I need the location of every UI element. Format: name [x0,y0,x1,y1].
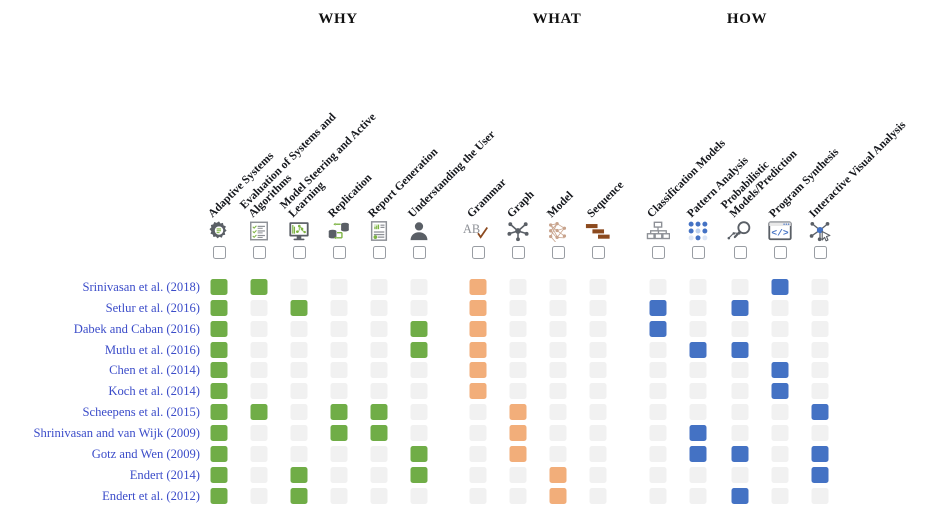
row-label-citation[interactable]: Srinivasan et al. (2018) [0,279,200,296]
matrix-cell-empty[interactable] [772,488,789,504]
magnifier-path-icon [725,218,755,244]
matrix-cell-empty[interactable] [510,342,527,358]
matrix-cell-empty[interactable] [690,467,707,483]
matrix-cell-filled[interactable] [411,446,428,462]
matrix-cell-filled[interactable] [690,342,707,358]
matrix-cell-empty[interactable] [732,404,749,420]
matrix-cell-filled[interactable] [812,446,829,462]
row-label-citation[interactable]: Mutlu et al. (2016) [0,342,200,359]
matrix-cell-empty[interactable] [331,362,348,378]
column-control-1 [242,218,276,264]
column-filter-checkbox[interactable] [293,246,306,259]
matrix-cell-empty[interactable] [371,383,388,399]
matrix-cell-empty[interactable] [812,321,829,337]
matrix-cell-empty[interactable] [772,321,789,337]
dot-matrix-icon [683,218,713,244]
node-graph-icon [503,218,533,244]
matrix-cell-empty[interactable] [251,383,268,399]
row-label-citation[interactable]: Endert et al. (2012) [0,488,200,505]
database-flow-icon [324,218,354,244]
row-label-citation[interactable]: Koch et al. (2014) [0,383,200,400]
matrix-cell-empty[interactable] [772,425,789,441]
matrix-cell-empty[interactable] [331,300,348,316]
matrix-page: WHYWHATHOW Adaptive SystemsEvaluation of… [0,0,946,515]
matrix-cell-empty[interactable] [411,425,428,441]
column-label-line1: Report Generation [366,145,440,219]
matrix-cell-empty[interactable] [690,321,707,337]
matrix-cell-filled[interactable] [211,321,228,337]
matrix-cell-filled[interactable] [411,342,428,358]
row-label-citation[interactable]: Endert (2014) [0,467,200,484]
matrix-cell-empty[interactable] [251,425,268,441]
matrix-cell-empty[interactable] [470,446,487,462]
column-label-report-generation: Report Generation [367,146,441,220]
row-label-citation[interactable]: Chen et al. (2014) [0,362,200,379]
column-label-model: Model [546,190,576,220]
matrix-cell-empty[interactable] [650,467,667,483]
matrix-cell-empty[interactable] [331,279,348,295]
matrix-cell-filled[interactable] [772,383,789,399]
matrix-cell-filled[interactable] [470,342,487,358]
matrix-cell-filled[interactable] [470,279,487,295]
matrix-cell-empty[interactable] [590,279,607,295]
matrix-cell-filled[interactable] [732,300,749,316]
column-filter-checkbox[interactable] [373,246,386,259]
column-label-line1: Classification Models [645,137,728,220]
column-filter-checkbox[interactable] [253,246,266,259]
matrix-cell-empty[interactable] [411,488,428,504]
matrix-cell-empty[interactable] [470,488,487,504]
column-label-line1: Graph [505,188,537,220]
matrix-cell-empty[interactable] [732,279,749,295]
matrix-cell-empty[interactable] [411,279,428,295]
matrix-cell-empty[interactable] [251,488,268,504]
matrix-cell-empty[interactable] [411,383,428,399]
matrix-cell-empty[interactable] [331,488,348,504]
matrix-cell-filled[interactable] [211,279,228,295]
matrix-cell-empty[interactable] [470,404,487,420]
matrix-body: Srinivasan et al. (2018)Setlur et al. (2… [0,278,946,508]
table-row: Endert (2014) [0,466,946,487]
matrix-cell-filled[interactable] [772,279,789,295]
matrix-cell-empty[interactable] [371,446,388,462]
column-filter-checkbox[interactable] [652,246,665,259]
table-row: Setlur et al. (2016) [0,299,946,320]
column-control-11 [681,218,715,264]
matrix-cell-empty[interactable] [550,342,567,358]
matrix-cell-empty[interactable] [812,279,829,295]
matrix-cell-filled[interactable] [211,404,228,420]
table-row: Endert et al. (2012) [0,487,946,508]
report-document-icon [364,218,394,244]
column-control-12 [723,218,757,264]
matrix-cell-filled[interactable] [470,383,487,399]
matrix-cell-empty[interactable] [690,488,707,504]
matrix-cell-empty[interactable] [590,362,607,378]
column-control-2 [282,218,316,264]
matrix-cell-filled[interactable] [291,300,308,316]
column-control-10 [641,218,675,264]
matrix-cell-filled[interactable] [510,425,527,441]
matrix-cell-empty[interactable] [510,362,527,378]
matrix-cell-empty[interactable] [772,300,789,316]
checklist-icon [244,218,274,244]
matrix-cell-empty[interactable] [291,342,308,358]
matrix-cell-empty[interactable] [371,488,388,504]
column-control-9 [581,218,615,264]
matrix-cell-empty[interactable] [772,342,789,358]
matrix-cell-filled[interactable] [772,362,789,378]
matrix-cell-empty[interactable] [690,279,707,295]
matrix-cell-empty[interactable] [812,342,829,358]
matrix-cell-empty[interactable] [331,467,348,483]
matrix-cell-empty[interactable] [291,404,308,420]
table-row: Shrinivasan and van Wijk (2009) [0,424,946,445]
matrix-cell-empty[interactable] [371,279,388,295]
matrix-cell-filled[interactable] [690,425,707,441]
matrix-cell-empty[interactable] [590,321,607,337]
column-label-line1: Sequence [585,179,626,220]
matrix-cell-empty[interactable] [331,446,348,462]
column-filter-checkbox[interactable] [333,246,346,259]
table-row: Mutlu et al. (2016) [0,341,946,362]
matrix-cell-empty[interactable] [331,321,348,337]
code-window-icon: </> [765,218,795,244]
matrix-cell-empty[interactable] [590,342,607,358]
matrix-cell-empty[interactable] [251,342,268,358]
matrix-cell-empty[interactable] [550,404,567,420]
matrix-cell-empty[interactable] [371,300,388,316]
matrix-cell-empty[interactable] [411,300,428,316]
matrix-cell-empty[interactable] [732,383,749,399]
matrix-cell-filled[interactable] [550,488,567,504]
matrix-cell-empty[interactable] [772,446,789,462]
icon-checkbox-row: AB</> [0,218,946,264]
column-label-graph: Graph [506,189,537,220]
matrix-cell-empty[interactable] [251,321,268,337]
matrix-cell-filled[interactable] [411,467,428,483]
column-label-row: Adaptive SystemsEvaluation of Systems an… [0,0,946,220]
column-control-4 [362,218,396,264]
column-label-sequence: Sequence [586,179,627,220]
matrix-cell-filled[interactable] [510,446,527,462]
matrix-cell-filled[interactable] [812,467,829,483]
matrix-cell-empty[interactable] [550,321,567,337]
column-control-13: </> [763,218,797,264]
neural-network-icon [543,218,573,244]
matrix-cell-filled[interactable] [732,446,749,462]
matrix-cell-empty[interactable] [590,300,607,316]
matrix-cell-empty[interactable] [650,279,667,295]
matrix-cell-filled[interactable] [690,446,707,462]
matrix-cell-empty[interactable] [331,342,348,358]
matrix-cell-empty[interactable] [251,446,268,462]
matrix-cell-empty[interactable] [690,300,707,316]
matrix-cell-empty[interactable] [590,383,607,399]
matrix-cell-filled[interactable] [211,488,228,504]
matrix-cell-empty[interactable] [650,404,667,420]
column-label-line1: Model [545,189,576,220]
matrix-cell-filled[interactable] [211,383,228,399]
matrix-cell-empty[interactable] [732,467,749,483]
matrix-cell-filled[interactable] [470,362,487,378]
matrix-cell-filled[interactable] [812,404,829,420]
matrix-cell-filled[interactable] [251,279,268,295]
matrix-cell-empty[interactable] [732,425,749,441]
row-label-citation[interactable]: Dabek and Caban (2016) [0,321,200,338]
matrix-cell-filled[interactable] [211,446,228,462]
table-row: Koch et al. (2014) [0,382,946,403]
column-control-5 [402,218,436,264]
matrix-cell-empty[interactable] [371,321,388,337]
column-filter-checkbox[interactable] [692,246,705,259]
matrix-cell-empty[interactable] [650,342,667,358]
column-filter-checkbox[interactable] [814,246,827,259]
column-filter-checkbox[interactable] [512,246,525,259]
matrix-cell-empty[interactable] [550,362,567,378]
matrix-cell-empty[interactable] [812,362,829,378]
matrix-cell-empty[interactable] [550,425,567,441]
matrix-cell-empty[interactable] [291,383,308,399]
row-label-citation[interactable]: Setlur et al. (2016) [0,300,200,317]
matrix-cell-empty[interactable] [371,362,388,378]
row-label-citation[interactable]: Scheepens et al. (2015) [0,404,200,421]
matrix-cell-filled[interactable] [211,425,228,441]
column-control-0 [202,218,236,264]
matrix-cell-empty[interactable] [650,446,667,462]
matrix-cell-empty[interactable] [291,425,308,441]
column-filter-checkbox[interactable] [213,246,226,259]
matrix-cell-empty[interactable] [510,488,527,504]
svg-text:</>: </> [771,228,788,239]
matrix-cell-filled[interactable] [470,321,487,337]
column-label-line1: Grammar [465,176,509,220]
matrix-cell-empty[interactable] [411,404,428,420]
column-filter-checkbox[interactable] [472,246,485,259]
column-filter-checkbox[interactable] [592,246,605,259]
matrix-cell-empty[interactable] [812,425,829,441]
table-row: Dabek and Caban (2016) [0,320,946,341]
matrix-cell-empty[interactable] [510,467,527,483]
matrix-cell-empty[interactable] [291,321,308,337]
matrix-cell-filled[interactable] [211,362,228,378]
matrix-cell-filled[interactable] [550,467,567,483]
column-filter-checkbox[interactable] [774,246,787,259]
interactive-node-cursor-icon [805,218,835,244]
column-label-grammar: Grammar [466,177,509,220]
matrix-cell-empty[interactable] [812,383,829,399]
column-filter-checkbox[interactable] [413,246,426,259]
matrix-cell-empty[interactable] [331,383,348,399]
table-row: Srinivasan et al. (2018) [0,278,946,299]
matrix-cell-empty[interactable] [510,300,527,316]
matrix-cell-empty[interactable] [371,467,388,483]
matrix-cell-empty[interactable] [510,383,527,399]
column-filter-checkbox[interactable] [734,246,747,259]
monitor-network-icon [284,218,314,244]
person-icon [404,218,434,244]
column-control-7 [501,218,535,264]
column-control-6: AB [461,218,495,264]
matrix-cell-filled[interactable] [510,404,527,420]
matrix-cell-empty[interactable] [650,488,667,504]
matrix-cell-empty[interactable] [371,342,388,358]
table-row: Scheepens et al. (2015) [0,403,946,424]
table-row: Chen et al. (2014) [0,361,946,382]
matrix-cell-empty[interactable] [470,467,487,483]
row-label-citation[interactable]: Gotz and Wen (2009) [0,446,200,463]
matrix-cell-filled[interactable] [291,467,308,483]
matrix-cell-filled[interactable] [291,488,308,504]
matrix-cell-filled[interactable] [251,404,268,420]
gantt-sequence-icon [583,218,613,244]
matrix-cell-empty[interactable] [590,425,607,441]
matrix-cell-empty[interactable] [510,279,527,295]
matrix-cell-empty[interactable] [510,321,527,337]
matrix-cell-filled[interactable] [732,488,749,504]
matrix-cell-filled[interactable] [650,321,667,337]
matrix-cell-empty[interactable] [590,404,607,420]
row-label-citation[interactable]: Shrinivasan and van Wijk (2009) [0,425,200,442]
matrix-cell-empty[interactable] [590,467,607,483]
matrix-cell-empty[interactable] [650,425,667,441]
matrix-cell-empty[interactable] [291,279,308,295]
matrix-cell-filled[interactable] [650,300,667,316]
matrix-cell-empty[interactable] [772,467,789,483]
column-control-3 [322,218,356,264]
matrix-cell-empty[interactable] [470,425,487,441]
matrix-cell-empty[interactable] [732,362,749,378]
matrix-cell-empty[interactable] [291,446,308,462]
matrix-cell-empty[interactable] [812,488,829,504]
matrix-cell-empty[interactable] [251,467,268,483]
matrix-cell-filled[interactable] [470,300,487,316]
matrix-cell-empty[interactable] [550,383,567,399]
column-filter-checkbox[interactable] [552,246,565,259]
matrix-cell-filled[interactable] [331,404,348,420]
matrix-cell-empty[interactable] [690,362,707,378]
matrix-cell-filled[interactable] [732,342,749,358]
matrix-cell-filled[interactable] [371,425,388,441]
matrix-cell-empty[interactable] [650,383,667,399]
matrix-cell-empty[interactable] [550,300,567,316]
matrix-cell-filled[interactable] [371,404,388,420]
matrix-cell-filled[interactable] [331,425,348,441]
matrix-cell-empty[interactable] [590,446,607,462]
matrix-cell-filled[interactable] [411,321,428,337]
table-row: Gotz and Wen (2009) [0,445,946,466]
matrix-cell-empty[interactable] [772,404,789,420]
matrix-cell-empty[interactable] [251,300,268,316]
matrix-cell-empty[interactable] [732,321,749,337]
column-label-classification-models: Classification Models [646,138,728,220]
matrix-cell-empty[interactable] [650,362,667,378]
matrix-cell-empty[interactable] [411,362,428,378]
column-control-8 [541,218,575,264]
matrix-cell-empty[interactable] [251,362,268,378]
matrix-cell-filled[interactable] [211,467,228,483]
ab-check-icon: AB [463,218,493,244]
matrix-cell-empty[interactable] [690,404,707,420]
matrix-cell-empty[interactable] [590,488,607,504]
matrix-cell-empty[interactable] [550,279,567,295]
matrix-cell-empty[interactable] [550,446,567,462]
matrix-cell-empty[interactable] [291,362,308,378]
hierarchy-tree-icon [643,218,673,244]
matrix-cell-filled[interactable] [211,300,228,316]
matrix-cell-empty[interactable] [812,300,829,316]
matrix-cell-filled[interactable] [211,342,228,358]
matrix-cell-empty[interactable] [690,383,707,399]
column-control-14 [803,218,837,264]
gear-icon [204,218,234,244]
